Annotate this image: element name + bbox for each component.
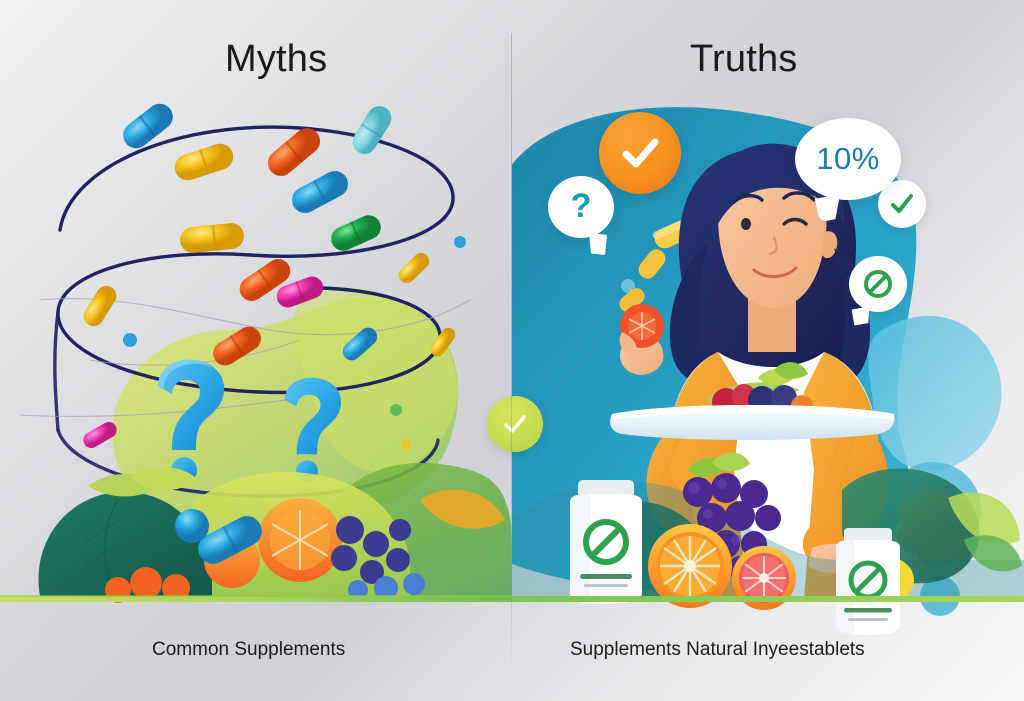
supplement-bottle xyxy=(836,528,900,635)
capsule-gold xyxy=(395,250,432,287)
percent-value: 10% xyxy=(816,141,880,177)
capsule-orange xyxy=(263,123,326,181)
lime-check-badge xyxy=(487,396,543,452)
capsule-yellow xyxy=(171,140,236,183)
capsule-yellow xyxy=(80,282,120,330)
eye xyxy=(741,218,751,230)
check-icon xyxy=(617,130,663,176)
truths-caption: Supplements Natural Inyeestablets xyxy=(570,639,865,661)
myths-illustration xyxy=(0,0,512,701)
percent-speech-bubble: 10% xyxy=(795,118,901,200)
question-mark-text: ? xyxy=(571,189,592,223)
check-icon xyxy=(500,409,530,439)
myths-title: Myths xyxy=(225,38,327,81)
capsule-blue xyxy=(118,99,178,154)
capsule-blue xyxy=(287,166,352,217)
capsule-gold xyxy=(179,222,245,255)
small-tomato xyxy=(130,567,162,599)
pill-dot xyxy=(123,333,137,347)
target-slash-icon xyxy=(861,267,895,301)
pill-dot xyxy=(390,404,402,416)
check-icon xyxy=(888,190,916,218)
ground-line xyxy=(512,596,1024,602)
truths-panel xyxy=(512,0,1024,701)
myths-panel xyxy=(0,0,512,701)
pill-dot xyxy=(454,236,466,248)
capsule-cyan xyxy=(348,102,396,159)
question-speech-bubble: ? xyxy=(548,176,614,238)
foliage-bed xyxy=(38,463,512,603)
infographic-canvas: 10% ? Myths Truths Common Supplements Su… xyxy=(0,0,1024,701)
pill-dot xyxy=(175,509,209,543)
orange-check-badge xyxy=(599,112,681,194)
truths-illustration xyxy=(512,0,1024,701)
myths-caption: Common Supplements xyxy=(152,639,345,661)
truths-title: Truths xyxy=(690,38,797,81)
bottle-label-rule xyxy=(584,584,628,587)
center-divider xyxy=(511,33,512,669)
bottle-label-text xyxy=(844,608,892,613)
target-speech-bubble xyxy=(849,256,907,312)
pill-dot xyxy=(401,440,411,450)
supplement-bottle xyxy=(570,480,642,604)
bottle-label-rule xyxy=(848,618,888,621)
bottle-label-text xyxy=(580,574,632,579)
